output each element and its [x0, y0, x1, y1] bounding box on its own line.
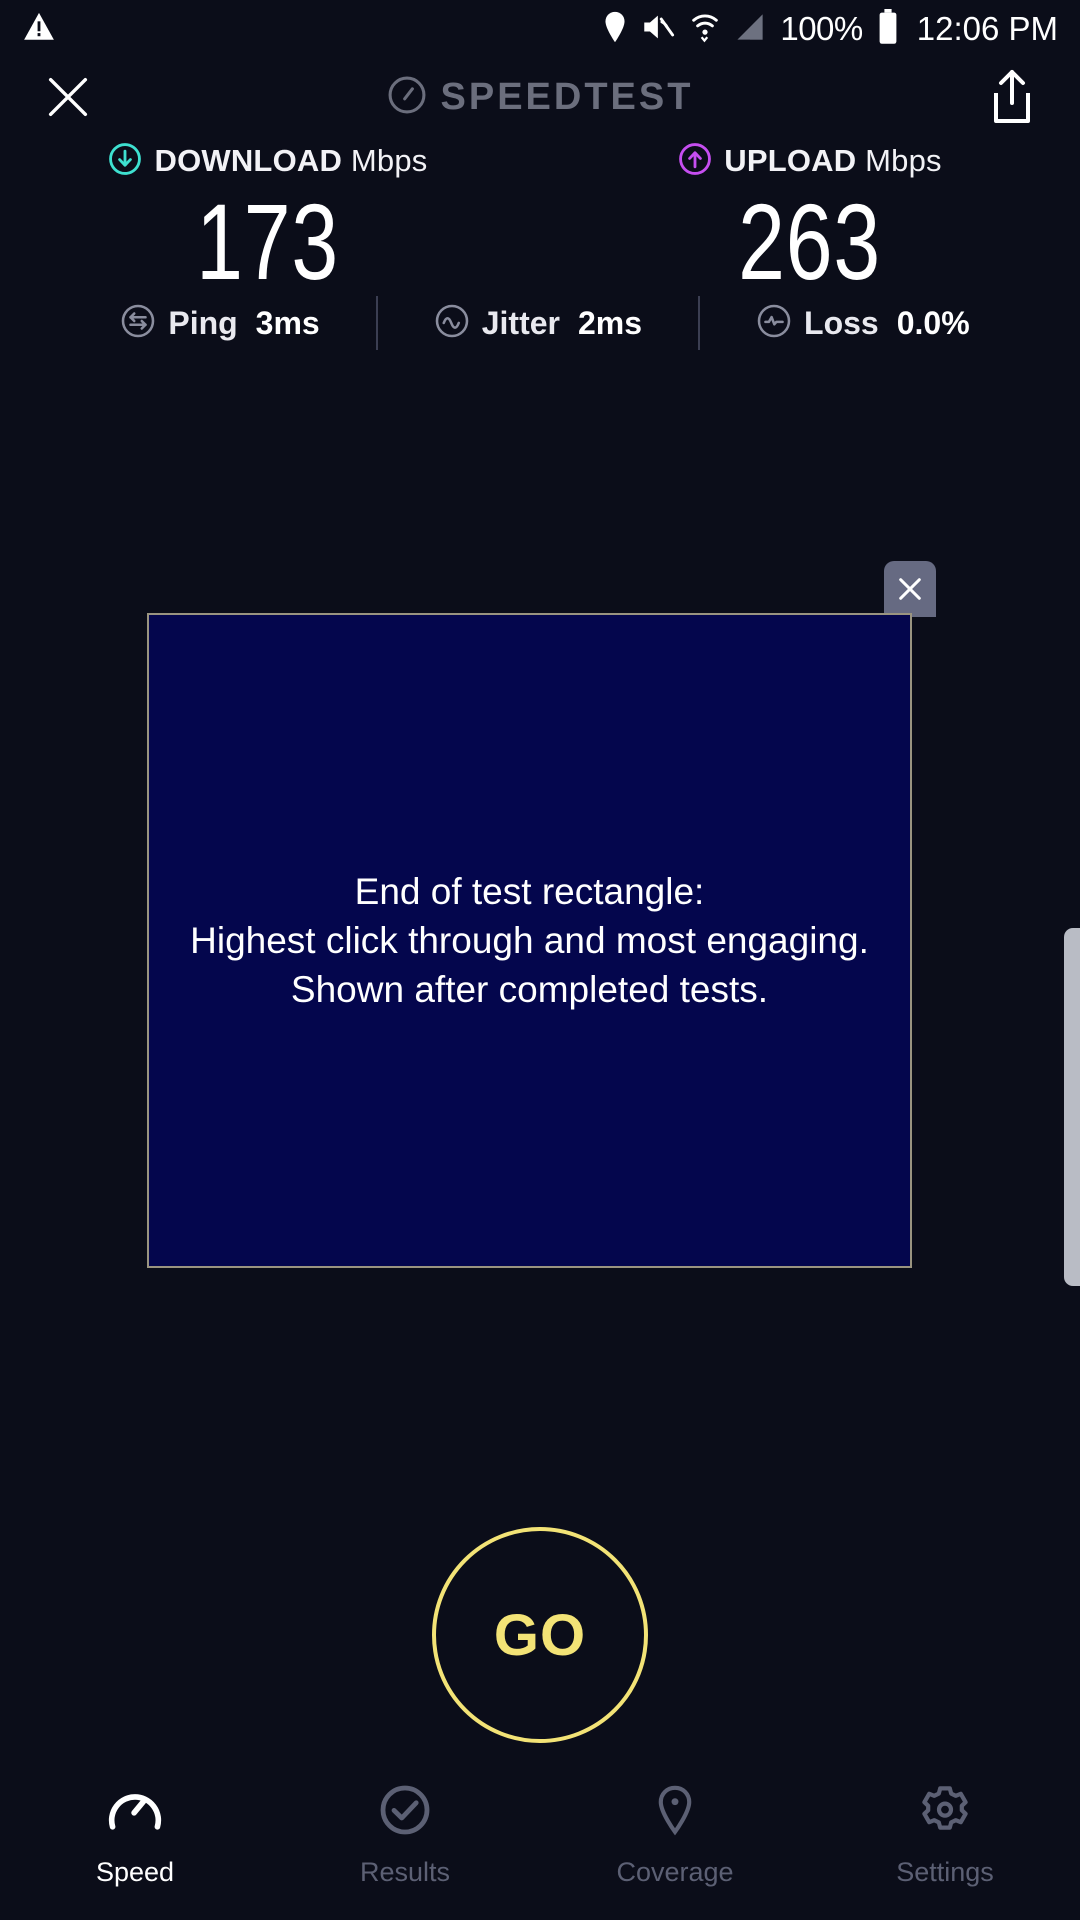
nav-item-coverage[interactable]: Coverage: [540, 1784, 810, 1888]
arrow-down-circle-icon: [108, 142, 142, 181]
ad-line-1: End of test rectangle:: [190, 867, 869, 916]
ad-line-3: Shown after completed tests.: [190, 965, 869, 1014]
metric-loss: Loss 0.0%: [756, 303, 970, 344]
download-result: DOWNLOAD Mbps 173: [58, 140, 478, 296]
advertisement[interactable]: End of test rectangle: Highest click thr…: [147, 613, 912, 1268]
ad-close-icon: [894, 573, 926, 605]
go-button[interactable]: GO: [432, 1527, 648, 1743]
close-icon: [42, 71, 94, 123]
share-icon: [989, 69, 1035, 125]
status-bar-clock: 12:06 PM: [917, 10, 1058, 48]
arrow-up-circle-icon: [678, 142, 712, 181]
download-value: 173: [197, 188, 340, 296]
upload-label: UPLOAD Mbps: [724, 143, 942, 179]
go-button-label: GO: [494, 1602, 586, 1669]
metric-ping-label: Ping: [168, 305, 237, 342]
results-row: DOWNLOAD Mbps 173 UPLOAD Mbps 263: [0, 140, 1080, 296]
battery-percent-label: 100%: [780, 10, 862, 48]
warning-triangle-icon: [22, 10, 56, 49]
metric-divider: [376, 296, 378, 350]
battery-full-icon: [877, 9, 899, 50]
ad-banner[interactable]: End of test rectangle: Highest click thr…: [147, 613, 912, 1268]
brand-label: SPEEDTEST: [441, 76, 694, 119]
metric-jitter-value: 2ms: [578, 305, 642, 342]
nav-label-results: Results: [360, 1857, 450, 1888]
metric-jitter: Jitter 2ms: [434, 303, 642, 344]
metric-loss-label: Loss: [804, 305, 879, 342]
cell-signal-icon: [734, 11, 766, 48]
nav-item-results[interactable]: Results: [270, 1784, 540, 1888]
check-circle-icon: [377, 1784, 433, 1841]
speedtest-app-screen: 100% 12:06 PM SPEEDTEST: [0, 0, 1080, 1920]
ad-copy: End of test rectangle: Highest click thr…: [172, 867, 887, 1015]
metric-divider: [698, 296, 700, 350]
speedometer-icon: [107, 1784, 163, 1841]
metric-ping-value: 3ms: [256, 305, 320, 342]
map-pin-icon: [647, 1784, 703, 1841]
loss-pulse-circle-icon: [756, 303, 792, 344]
ad-close-button[interactable]: [884, 561, 936, 617]
status-bar-right: 100% 12:06 PM: [602, 9, 1058, 50]
app-brand: SPEEDTEST: [0, 75, 1080, 120]
volume-mute-icon: [642, 12, 676, 47]
upload-header: UPLOAD Mbps: [678, 140, 942, 182]
nav-item-speed[interactable]: Speed: [0, 1784, 270, 1888]
metric-ping: Ping 3ms: [120, 303, 319, 344]
status-bar-left: [22, 10, 56, 49]
speedometer-icon: [387, 75, 427, 120]
ping-arrows-circle-icon: [120, 303, 156, 344]
nav-label-speed: Speed: [96, 1857, 174, 1888]
close-button[interactable]: [40, 69, 96, 125]
results-panel: DOWNLOAD Mbps 173 UPLOAD Mbps 263: [0, 140, 1080, 296]
status-bar: 100% 12:06 PM: [0, 0, 1080, 58]
download-label: DOWNLOAD Mbps: [154, 143, 427, 179]
wifi-icon: [690, 10, 720, 49]
network-metrics-row: Ping 3ms Jitter 2ms Loss 0.0%: [0, 296, 1080, 350]
share-button[interactable]: [984, 67, 1040, 127]
metric-loss-value: 0.0%: [897, 305, 970, 342]
upload-result: UPLOAD Mbps 263: [600, 140, 1020, 296]
location-pin-icon: [602, 10, 628, 49]
download-header: DOWNLOAD Mbps: [108, 140, 427, 182]
nav-label-settings: Settings: [896, 1857, 994, 1888]
scrollbar-thumb[interactable]: [1064, 928, 1080, 1286]
bottom-navigation: Speed Results Coverage Settings: [0, 1770, 1080, 1920]
metric-jitter-label: Jitter: [482, 305, 560, 342]
nav-item-settings[interactable]: Settings: [810, 1784, 1080, 1888]
gear-icon: [917, 1784, 973, 1841]
app-header: SPEEDTEST: [0, 58, 1080, 136]
nav-label-coverage: Coverage: [616, 1857, 733, 1888]
upload-value: 263: [739, 188, 882, 296]
jitter-wave-circle-icon: [434, 303, 470, 344]
ad-line-2: Highest click through and most engaging.: [190, 916, 869, 965]
